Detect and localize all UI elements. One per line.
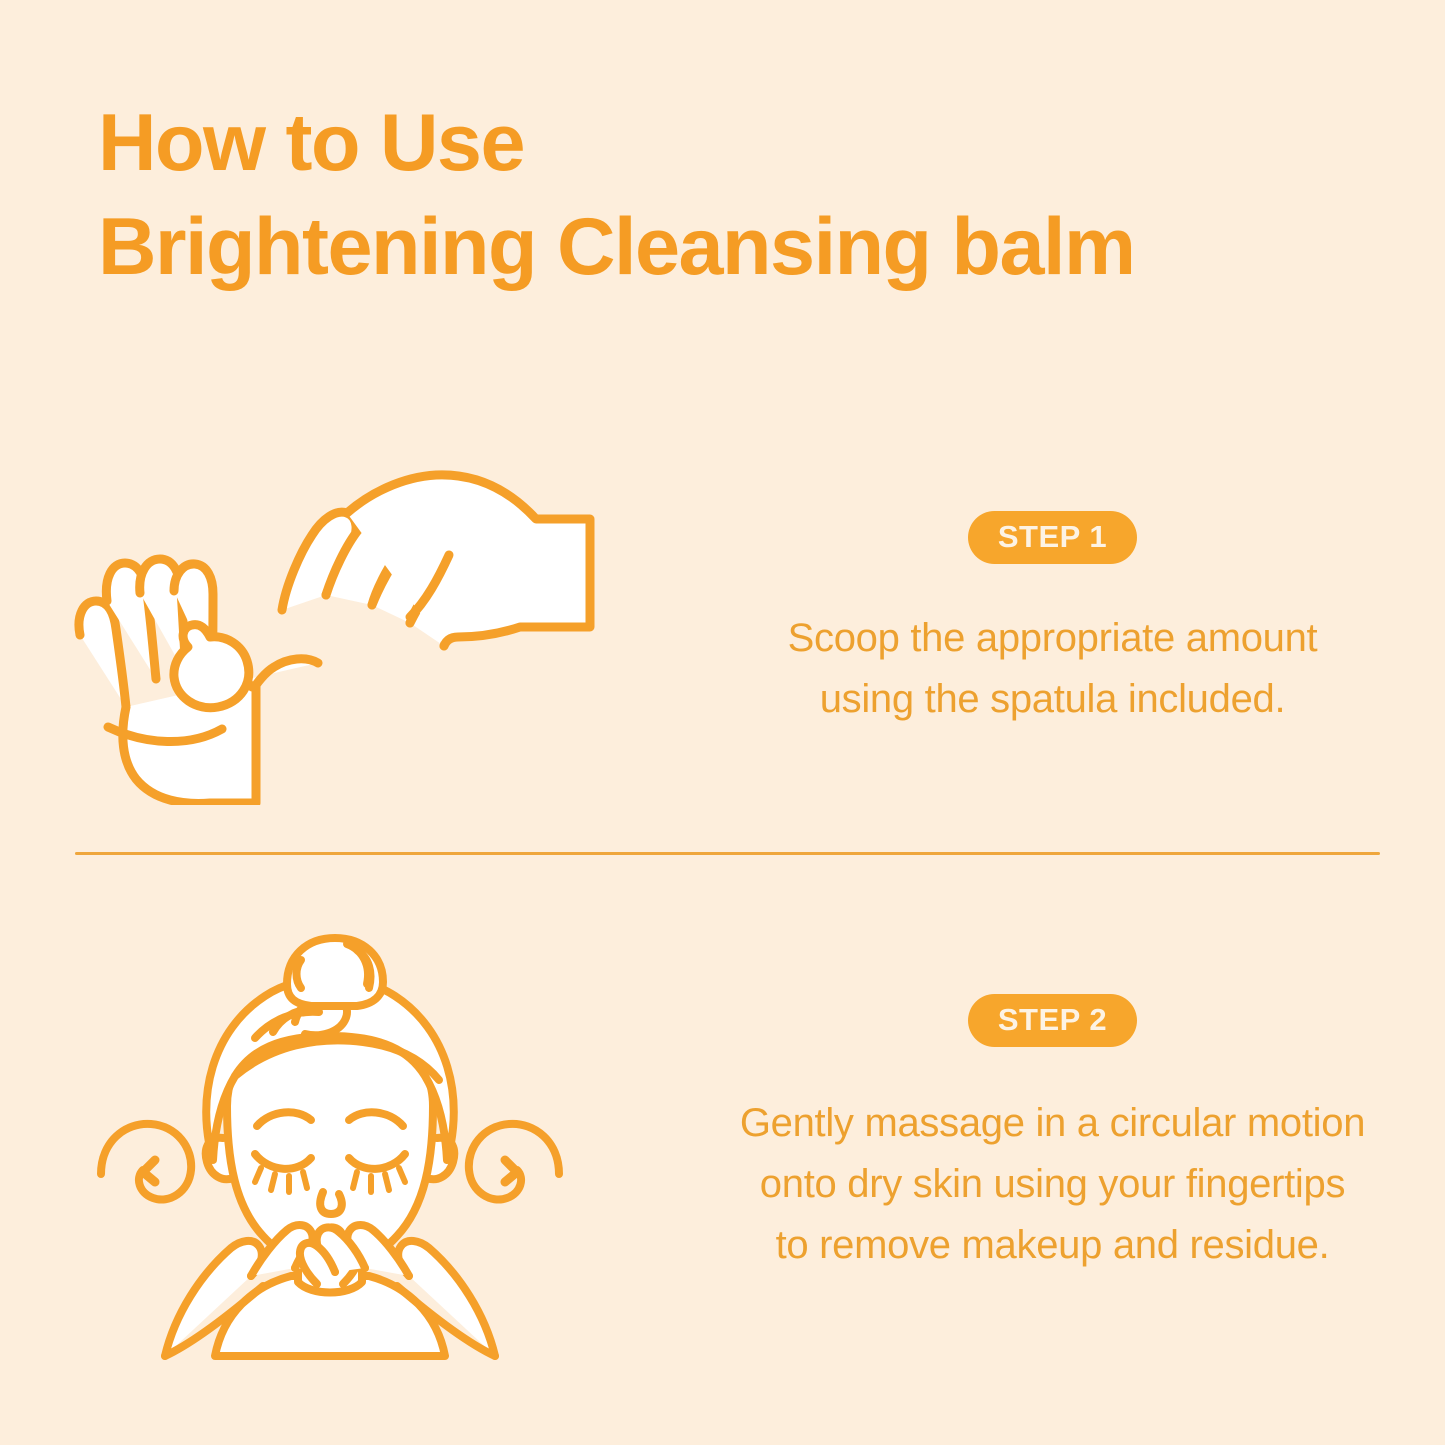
step-1-description: Scoop the appropriate amount using the s…	[788, 608, 1318, 730]
swirl-arrow-right-icon	[469, 1124, 559, 1200]
balm-dollop-icon	[174, 625, 249, 708]
title-line-1: How to Use	[98, 92, 1348, 196]
step-2-badge: STEP 2	[968, 994, 1137, 1047]
step-1-badge: STEP 1	[968, 511, 1137, 564]
step-2-description: Gently massage in a circular motion onto…	[740, 1093, 1365, 1275]
step-2-row: STEP 2 Gently massage in a circular moti…	[0, 900, 1445, 1370]
section-divider	[75, 852, 1380, 855]
swirl-arrow-left-icon	[101, 1124, 191, 1200]
title-line-2: Brightening Cleansing balm	[98, 196, 1348, 300]
step-1-line-2: using the spatula included.	[788, 669, 1318, 730]
step-1-line-1: Scoop the appropriate amount	[788, 608, 1318, 669]
step-2-illustration-cell	[0, 910, 660, 1360]
step-1-illustration-cell	[0, 435, 660, 805]
infographic-page: How to Use Brightening Cleansing balm	[0, 0, 1445, 1445]
step-2-line-2: onto dry skin using your fingertips	[740, 1154, 1365, 1215]
page-title: How to Use Brightening Cleansing balm	[98, 92, 1348, 299]
hands-scooping-balm-icon	[50, 435, 610, 805]
step-1-row: STEP 1 Scoop the appropriate amount usin…	[0, 420, 1445, 820]
step-2-text-cell: STEP 2 Gently massage in a circular moti…	[660, 994, 1445, 1275]
step-1-text-cell: STEP 1 Scoop the appropriate amount usin…	[660, 511, 1445, 730]
woman-massaging-face-icon	[95, 910, 565, 1360]
step-2-line-3: to remove makeup and residue.	[740, 1215, 1365, 1276]
step-2-line-1: Gently massage in a circular motion	[740, 1093, 1365, 1154]
